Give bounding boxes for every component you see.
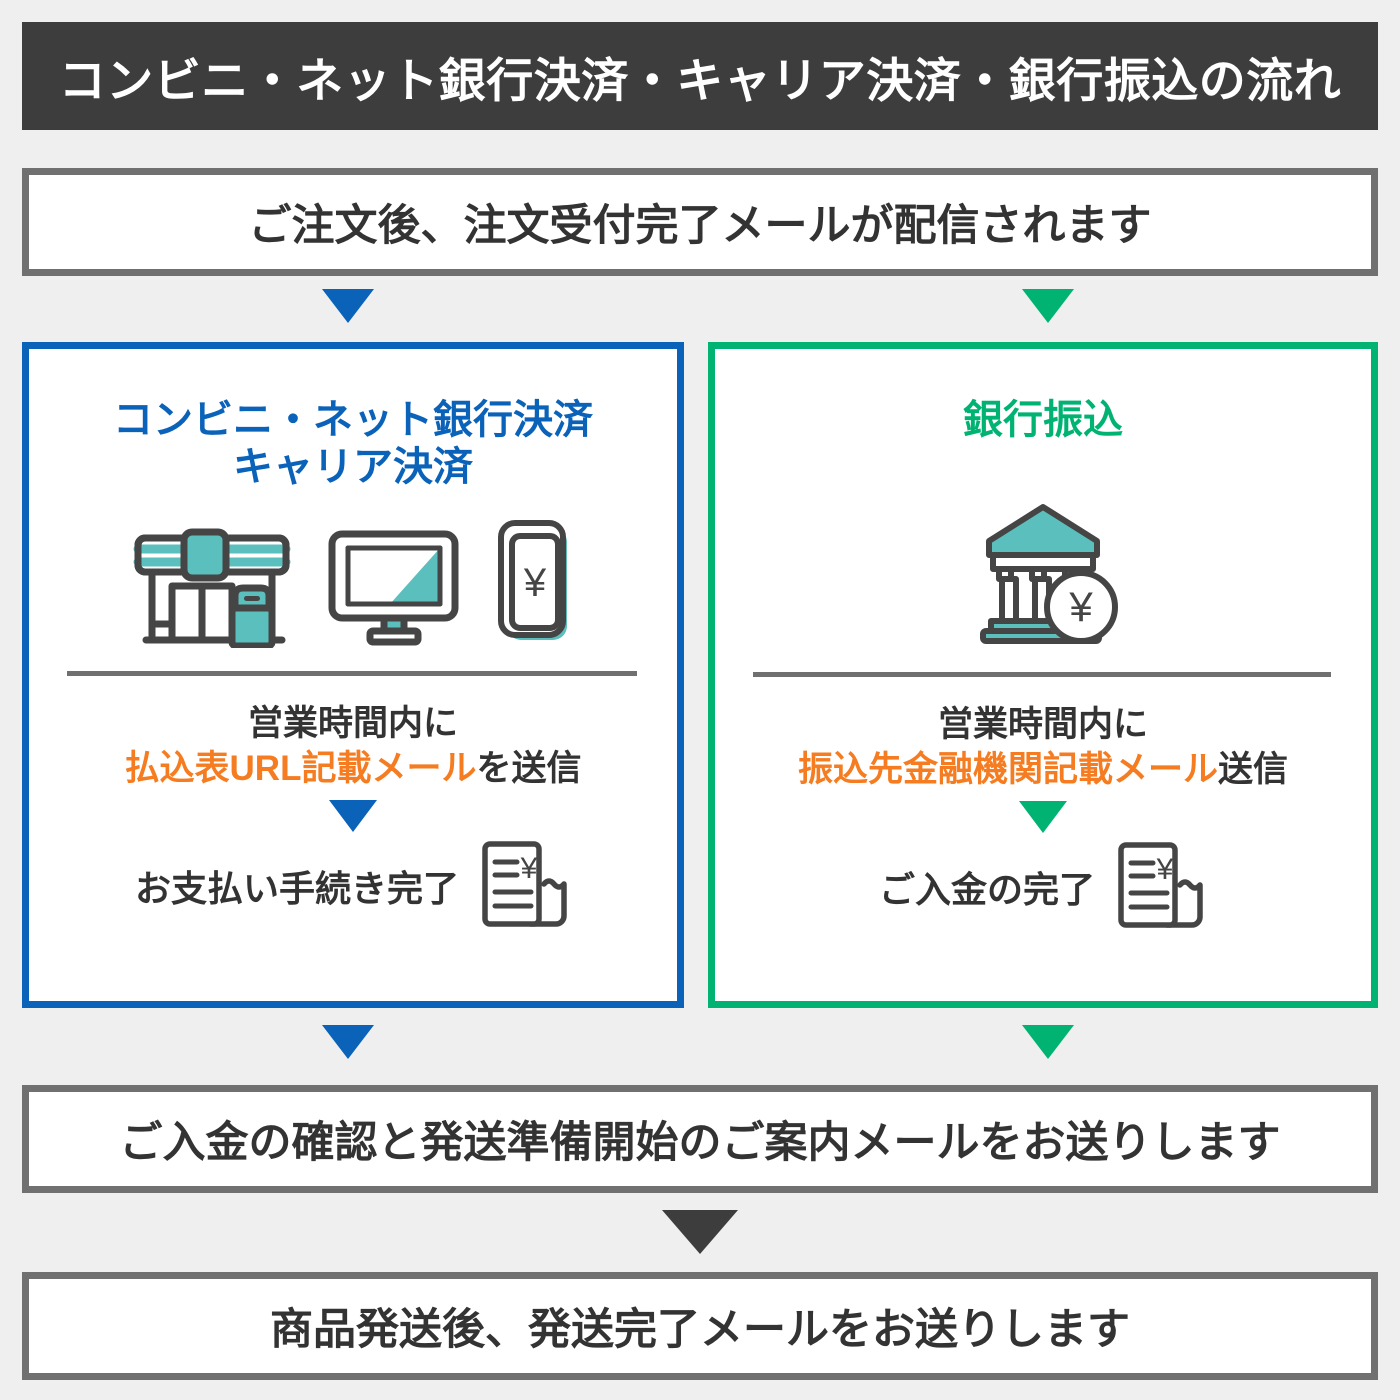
store-icon: [132, 528, 292, 653]
arrow-down-bank-step-icon: [1019, 801, 1067, 833]
panel-bank-title: 銀行振込: [715, 397, 1371, 444]
svg-text:¥: ¥: [522, 561, 546, 605]
svg-text:¥: ¥: [1156, 853, 1174, 886]
panel-conveni-separator: [67, 671, 637, 676]
panel-bank-note-line1: 営業時間内に: [715, 703, 1371, 748]
step-confirm-email-label: ご入金の確認と発送準備開始のご案内メールをお送りします: [120, 1108, 1281, 1170]
step-order-email-box: ご注文後、注文受付完了メールが配信されます: [22, 168, 1378, 276]
panel-bank-note-suffix: 送信: [1218, 750, 1288, 789]
panel-bank-note-line2: 振込先金融機関記載メール送信: [715, 748, 1371, 793]
panel-conveni-payment: コンビニ・ネット銀行決済 キャリア決済: [22, 342, 684, 1008]
bank-yen-icon: ¥: [957, 499, 1129, 654]
monitor-icon: [326, 526, 461, 653]
arrow-down-to-bank-icon: [1022, 289, 1074, 323]
invoice-yen-icon: ¥: [1107, 839, 1207, 936]
step-confirm-email-box: ご入金の確認と発送準備開始のご案内メールをお送りします: [22, 1085, 1378, 1193]
panel-bank-step-arrow-wrap: [715, 801, 1371, 833]
payment-flow-diagram: コンビニ・ネット銀行決済・キャリア決済・銀行振込の流れ ご注文後、注文受付完了メ…: [0, 0, 1400, 1400]
panel-conveni-icon-row: ¥: [29, 503, 677, 653]
arrow-down-to-conveni-icon: [322, 289, 374, 323]
panel-bank-note-highlight: 振込先金融機関記載メール: [798, 750, 1218, 789]
panel-conveni-done-row: お支払い手続き完了 ¥: [29, 838, 677, 935]
panel-conveni-note-line2: 払込表URL記載メールを送信: [29, 747, 677, 792]
arrow-down-from-conveni-icon: [322, 1025, 374, 1059]
step-shipped-email-box: 商品発送後、発送完了メールをお送りします: [22, 1272, 1378, 1380]
panel-bank-separator: [753, 672, 1331, 677]
panel-bank-transfer: 銀行振込: [708, 342, 1378, 1008]
page-title: コンビニ・ネット銀行決済・キャリア決済・銀行振込の流れ: [59, 42, 1342, 111]
panel-conveni-done-label: お支払い手続き完了: [135, 860, 459, 912]
panel-bank-done-row: ご入金の完了 ¥: [715, 839, 1371, 936]
svg-text:¥: ¥: [1068, 583, 1093, 630]
panel-conveni-note: 営業時間内に 払込表URL記載メールを送信: [29, 702, 677, 792]
panel-conveni-step-arrow-wrap: [29, 800, 677, 832]
step-order-email-label: ご注文後、注文受付完了メールが配信されます: [249, 191, 1152, 253]
panel-bank-note: 営業時間内に 振込先金融機関記載メール送信: [715, 703, 1371, 793]
smartphone-yen-icon: ¥: [495, 518, 575, 653]
svg-text:¥: ¥: [520, 852, 538, 885]
invoice-yen-icon: ¥: [471, 838, 571, 935]
arrow-down-conveni-step-icon: [329, 800, 377, 832]
arrow-down-to-shipped-icon: [662, 1210, 738, 1254]
panel-bank-icon-row: ¥: [715, 504, 1371, 654]
page-title-bar: コンビニ・ネット銀行決済・キャリア決済・銀行振込の流れ: [22, 22, 1378, 130]
arrow-down-from-bank-icon: [1022, 1025, 1074, 1059]
panel-conveni-note-suffix: を送信: [476, 749, 581, 788]
panel-conveni-note-line1: 営業時間内に: [29, 702, 677, 747]
panel-conveni-note-highlight: 払込表URL記載メール: [125, 749, 477, 788]
panel-bank-done-label: ご入金の完了: [879, 861, 1095, 913]
step-shipped-email-label: 商品発送後、発送完了メールをお送りします: [270, 1295, 1130, 1357]
panel-conveni-title: コンビニ・ネット銀行決済 キャリア決済: [29, 397, 677, 491]
